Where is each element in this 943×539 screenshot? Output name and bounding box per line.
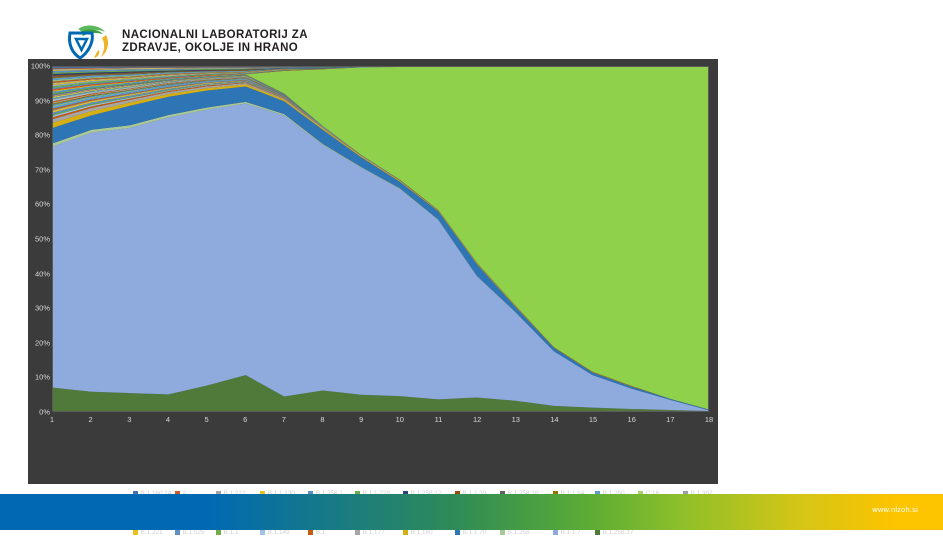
stacked-area-plot [52,66,709,412]
legend-color-swatch [133,530,138,535]
y-axis-tick: 80% [16,131,50,140]
legend-color-swatch [500,530,505,535]
legend-color-swatch [308,530,313,535]
y-axis-tick: 30% [16,304,50,313]
x-axis-tick: 12 [473,415,481,424]
legend-color-swatch [403,530,408,535]
legend-color-swatch [455,530,460,535]
legend-item[interactable]: B.1.525 [175,529,205,536]
legend-item-label: B.1.221 [141,529,163,536]
y-axis-tick: 20% [16,338,50,347]
x-axis-tick: 18 [705,415,713,424]
legend-item-label: B.1.149 [268,529,290,536]
page-header: NACIONALNI LABORATORIJ ZA ZDRAVJE, OKOLJ… [0,0,943,62]
legend-item-label: B.1.177 [363,529,385,536]
page-footer: www.nlzoh.si [0,494,943,530]
x-axis-tick: 6 [243,415,247,424]
footer-website-url: www.nlzoh.si [872,505,918,514]
legend-color-swatch [355,530,360,535]
y-axis: 100%90%80%70%60%50%40%30%20%10%0% [16,66,50,412]
legend-item-label: B.1.1.70 [463,529,487,536]
x-axis-tick: 1 [50,415,54,424]
legend-color-swatch [175,530,180,535]
x-axis-tick: 15 [589,415,597,424]
y-axis-tick: 40% [16,269,50,278]
brand-logo-block: NACIONALNI LABORATORIJ ZA ZDRAVJE, OKOLJ… [63,22,308,62]
x-axis: 123456789101112131415161718 [52,415,709,429]
legend-color-swatch [595,530,600,535]
legend-item[interactable]: B.1 [308,529,325,536]
legend-item-label: B.1.160 [411,529,433,536]
legend-color-swatch [553,530,558,535]
y-axis-tick: 100% [16,62,50,71]
x-axis-tick: 17 [666,415,674,424]
x-axis-tick: 5 [204,415,208,424]
x-axis-tick: 13 [512,415,520,424]
y-axis-tick: 90% [16,96,50,105]
legend-item-label: B.1.1.7 [561,529,581,536]
legend-item[interactable]: B.1.1.70 [455,529,486,536]
x-axis-tick: 14 [550,415,558,424]
x-axis-tick: 3 [127,415,131,424]
chart-panel: 100%90%80%70%60%50%40%30%20%10%0% 123456… [28,59,718,484]
legend-item[interactable]: B.1.258.17 [595,529,633,536]
brand-name-line2: ZDRAVJE, OKOLJE IN HRANO [122,42,308,55]
x-axis-tick: 10 [396,415,404,424]
y-axis-tick: 10% [16,373,50,382]
y-axis-tick: 0% [16,408,50,417]
x-axis-tick: 7 [282,415,286,424]
nlzoh-leaf-shield-logo-icon [63,22,113,62]
legend-item[interactable]: B.1.149 [260,529,290,536]
x-axis-tick: 2 [89,415,93,424]
legend-item-label: B.1 [316,529,326,536]
brand-name-line1: NACIONALNI LABORATORIJ ZA [122,29,308,42]
x-axis-tick: 11 [435,415,443,424]
x-axis-tick: 9 [359,415,363,424]
brand-name: NACIONALNI LABORATORIJ ZA ZDRAVJE, OKOLJ… [122,29,308,55]
x-axis-tick: 8 [320,415,324,424]
y-axis-tick: 60% [16,200,50,209]
plot-wrapper: 100%90%80%70%60%50%40%30%20%10%0% [52,66,709,412]
y-axis-tick: 50% [16,235,50,244]
legend-item[interactable]: B.1.258 [500,529,530,536]
legend-item[interactable]: B.1.160 [403,529,433,536]
legend-item-label: B.1.258.17 [603,529,634,536]
legend-item[interactable]: B.1.221 [133,529,163,536]
legend-item-label: B.1.258 [508,529,530,536]
x-axis-tick: 4 [166,415,170,424]
legend-item-label: B.1.525 [183,529,205,536]
x-axis-tick: 16 [628,415,636,424]
legend-color-swatch [216,530,221,535]
legend-item[interactable]: B.1.1.7 [553,529,581,536]
legend-item-label: B.1.1 [224,529,239,536]
legend-item[interactable]: B.1.1 [216,529,238,536]
legend-color-swatch [260,530,265,535]
y-axis-tick: 70% [16,165,50,174]
legend-item[interactable]: B.1.177 [355,529,385,536]
